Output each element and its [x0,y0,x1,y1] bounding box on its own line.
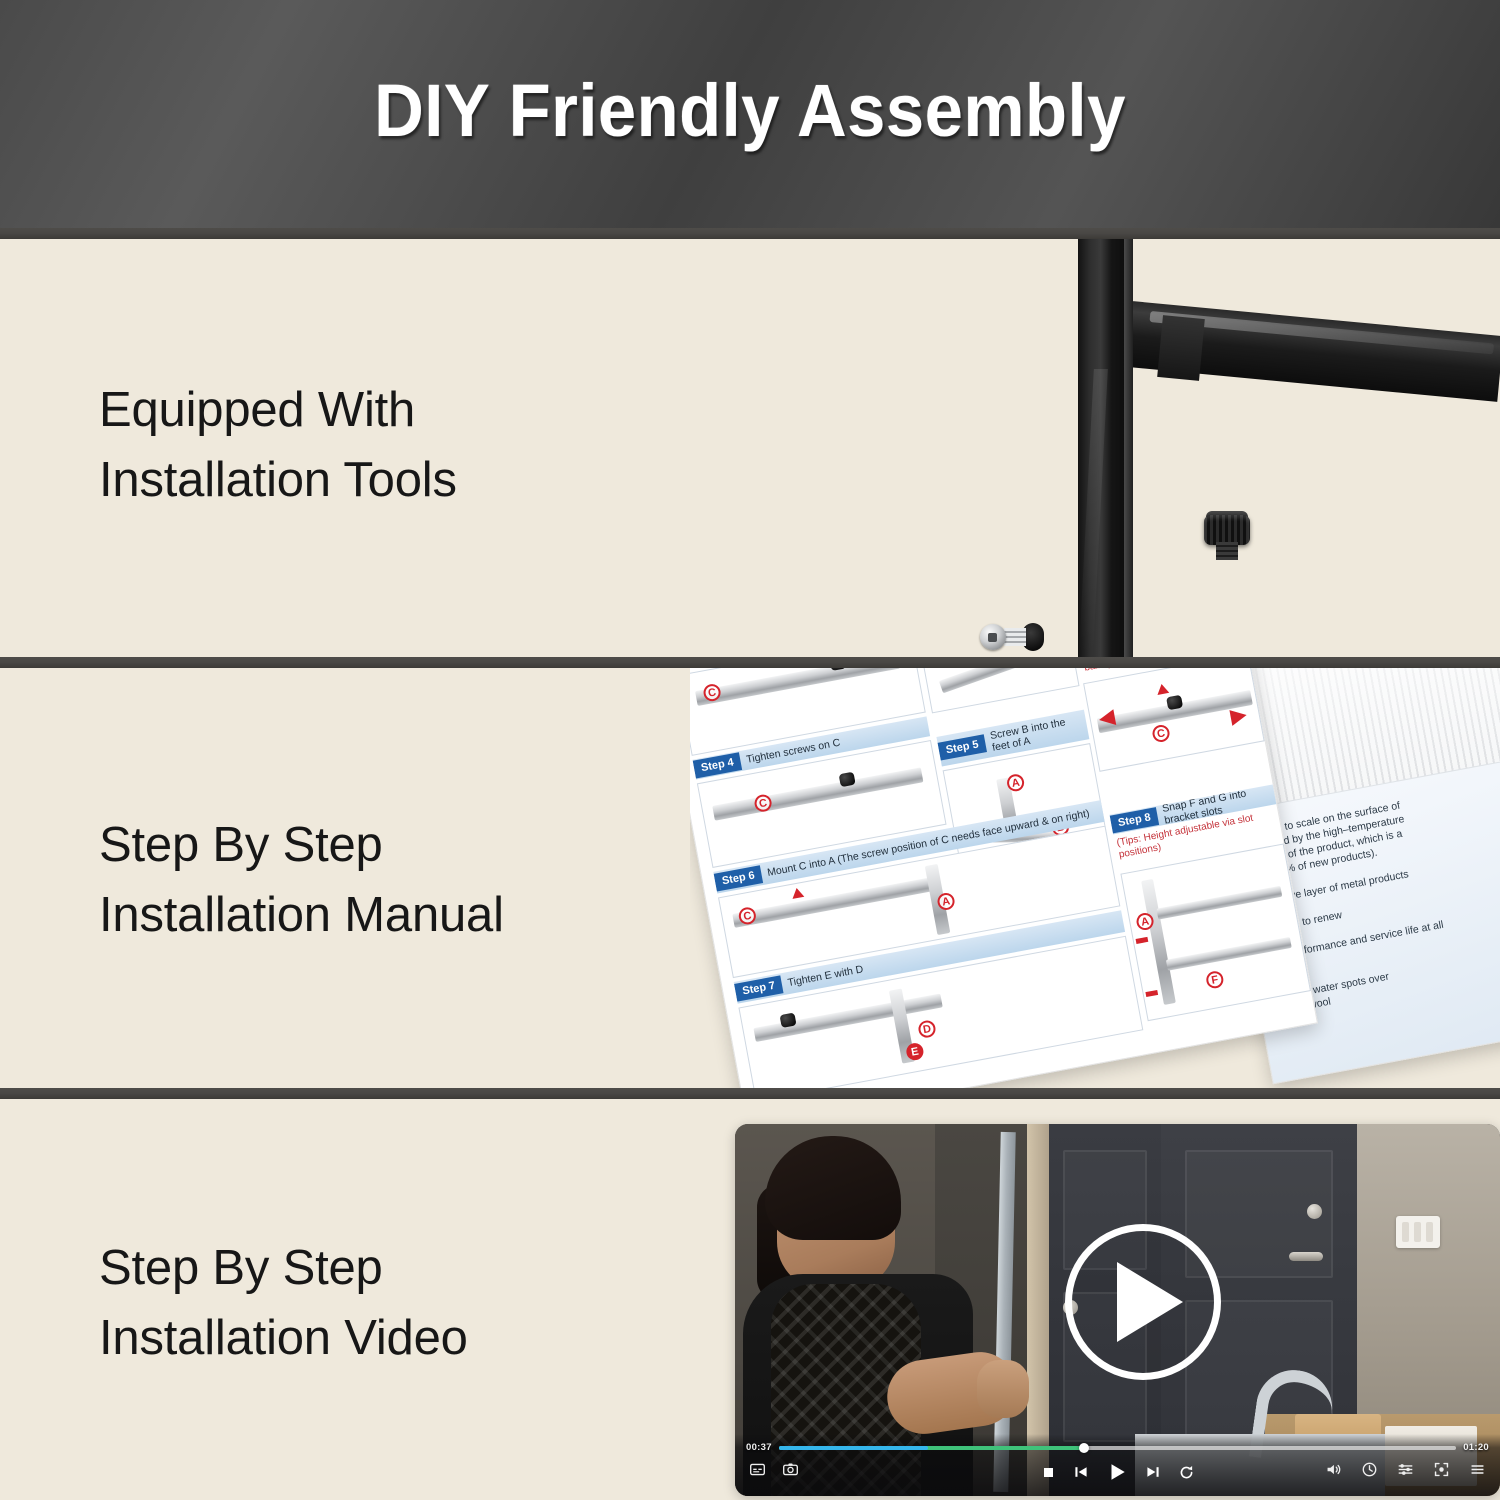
subtitles-icon[interactable] [749,1461,766,1478]
seek-played [779,1446,928,1450]
manual-step-7-tag: Step 7 [734,975,784,1001]
screenshot-icon[interactable] [782,1461,799,1478]
replay-icon[interactable] [1178,1464,1195,1481]
divider-middle-1 [0,657,1500,668]
stop-icon[interactable] [1041,1465,1056,1480]
post-edge [1124,239,1133,657]
thumb-knob-stem [1216,542,1238,560]
controls-right [1325,1461,1486,1478]
seek-row: 00:37 01:20 [735,1442,1500,1453]
video-light-switch [1396,1216,1440,1248]
thumb-knob-icon [1204,515,1250,545]
equalizer-icon[interactable] [1397,1461,1414,1478]
arrow-slot-1 [1136,937,1149,944]
page-title: DIY Friendly Assembly [53,68,1448,153]
panel-1-label: Equipped With Installation Tools [99,376,457,515]
divider-middle-2 [0,1088,1500,1099]
control-row [735,1461,1500,1487]
manual-step-6-tag: Step 6 [714,865,764,891]
video-player-controls: 00:37 01:20 [735,1434,1500,1496]
hex-bolt-upper [980,624,1038,650]
panel-installation-manual: Step By Step Installation Manual s simil… [0,668,1500,1088]
menu-icon[interactable] [1469,1461,1486,1478]
fullscreen-icon[interactable] [1433,1461,1450,1478]
bolt-head-upper [980,624,1006,650]
seek-bar[interactable] [779,1446,1456,1450]
volume-icon[interactable] [1325,1461,1342,1478]
arrow-up-mount [791,887,805,899]
panel-installation-video: Step By Step Installation Video [0,1099,1500,1500]
next-icon[interactable] [1145,1464,1161,1480]
rod-shelf-g [1166,937,1292,971]
part-label-d-2: D [917,1019,937,1039]
controls-center [1041,1461,1195,1483]
arrow-right-extend [1229,707,1248,726]
controls-left [749,1461,799,1478]
manual-step-5-tag: Step 5 [938,734,988,760]
play-icon-small[interactable] [1106,1461,1128,1483]
bolt-thread-upper [1004,628,1026,646]
playback-speed-icon[interactable] [1361,1461,1378,1478]
play-button[interactable] [1065,1224,1221,1380]
panel-3-label: Step By Step Installation Video [99,1234,468,1373]
rod-angled [939,668,1045,693]
current-time-label: 00:37 [746,1442,772,1453]
video-door-right-lock [1307,1204,1322,1219]
hex-socket-upper [988,633,997,642]
manual-cell-step3-illustration: C [1083,668,1265,772]
installation-video-thumbnail[interactable]: 00:37 01:20 [735,1124,1500,1496]
arrow-up-extend [1156,683,1170,695]
rod-c-top [695,668,900,706]
manual-step-4-tag: Step 4 [693,752,743,778]
panel-installation-tools: Equipped With Installation Tools [0,239,1500,657]
installation-manual-pages-photo: s similar to scale on the surface of pro… [690,668,1500,1088]
previous-icon[interactable] [1073,1464,1089,1480]
manual-cell-tool-illustration: D [916,668,1079,713]
manual-steps-sheet: C D with thin rods Step 3 Extend C to th… [690,668,1318,1088]
video-door-right-handle [1289,1252,1323,1261]
rod-c-mid [712,767,923,820]
arrow-slot-2 [1145,990,1158,997]
header-banner: DIY Friendly Assembly [0,0,1500,228]
part-label-c-2: C [1151,724,1171,744]
play-icon [1117,1262,1183,1342]
panel-2-label: Step By Step Installation Manual [99,811,504,950]
rod-c-mount [732,878,931,928]
manual-step-8-tag: Step 8 [1110,807,1160,833]
rod-shelf-f [1156,886,1282,920]
video-person-hand [977,1360,1029,1418]
part-label-f-1: F [1205,970,1225,990]
seek-handle[interactable] [1079,1443,1089,1453]
duration-label: 01:20 [1463,1442,1489,1453]
divider-top [0,228,1500,239]
crossbar-bracket [1157,315,1205,381]
arrow-left-extend [1098,709,1117,728]
manual-cell-step8-illustration: A F [1120,843,1311,1021]
promo-page: DIY Friendly Assembly Equipped With Inst… [0,0,1500,1500]
